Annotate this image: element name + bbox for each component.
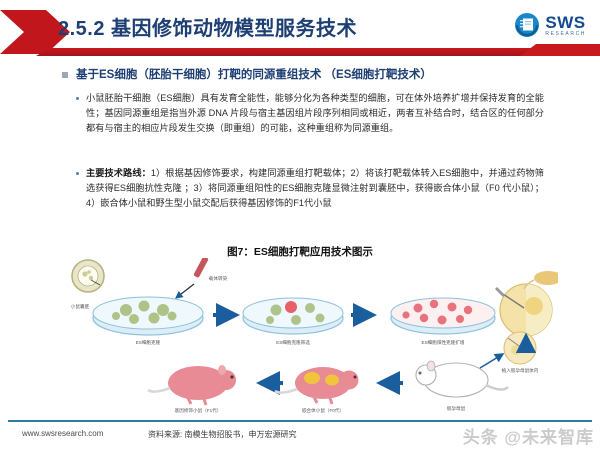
figure-dish-es-expand [391,298,495,334]
figure-dish-es-culture [93,297,203,335]
figure-label-vector: 载体转染 [209,275,228,282]
figure-vector-pipette [176,258,209,298]
logo-text-block: SWS RESEARCH [545,14,586,37]
figure-diagram: 小鼠囊胚 载体转染 [48,258,558,420]
figure-label-gene-mouse: 基因修饰小鼠（F1代） [175,407,222,414]
paragraph-route-text: 主要技术路线：1）根据基因修饰要求，构建同源重组打靶载体；2）将该打靶载体转入E… [86,166,544,211]
sws-circular-logo-icon [514,12,540,38]
figure-dish-es-screen [243,298,343,334]
figure-label-pseudopregnant: 植入假孕母鼠体内 [502,367,539,374]
paragraph-intro-text: 小鼠胚胎干细胞（ES细胞）具有发育全能性，能够分化为各种类型的细胞，可在体外培养… [86,91,544,136]
figure-label-surrogate: 假孕母鼠 [447,405,466,412]
slide-footer: www.swsresearch.com 资料来源: 南模生物招股书，申万宏源研究… [0,420,600,450]
slide-header: 2.5.2 基因修饰动物模型服务技术 SWS RESEARCH [0,0,600,58]
sws-logo: SWS RESEARCH [514,12,586,38]
figure-label-blastocyst-source: 小鼠囊胚 [71,303,90,310]
paragraph-intro: 小鼠胚胎干细胞（ES细胞）具有发育全能性，能够分化为各种类型的细胞，可在体外培养… [76,91,544,136]
footer-divider [8,420,592,422]
figure-label-es-culture: ES细胞克隆 [136,339,161,346]
dot-bullet-icon [76,97,79,100]
slide-root: 2.5.2 基因修饰动物模型服务技术 SWS RESEARCH [0,0,600,450]
footer-website-url[interactable]: www.swsresearch.com [22,429,103,438]
figure-label-es-screen: ES细胞克隆筛选 [276,339,310,346]
figure-label-es-expand: ES细胞阳性克隆扩增 [422,339,465,346]
figure-mouse-surrogate [416,354,508,397]
page-title: 2.5.2 基因修饰动物模型服务技术 [58,12,357,41]
square-bullet-icon [62,72,68,78]
figure-microinjection [496,284,552,336]
figure-label-chimera: 嵌合体小鼠（F0代） [302,407,344,414]
figure-implant-embryo [504,332,536,364]
section-heading: 基于ES细胞（胚胎干细胞）打靶的同源重组技术 （ES细胞打靶技术） [62,66,432,82]
paragraph-route-body: 1）根据基因修饰要求，构建同源重组打靶载体；2）将该打靶载体转入ES细胞中，并通… [86,168,544,208]
figure-blastocyst-source [72,260,104,292]
footer-source-note: 资料来源: 南模生物招股书，申万宏源研究 [148,429,296,440]
figure-title: 图7：ES细胞打靶应用技术图示 [0,244,600,259]
header-red-band [36,48,600,56]
dot-bullet-icon [76,172,79,175]
section-heading-text: 基于ES细胞（胚胎干细胞）打靶的同源重组技术 （ES细胞打靶技术） [76,66,432,82]
logo-subtitle: RESEARCH [545,32,586,37]
paragraph-route: 主要技术路线：1）根据基因修饰要求，构建同源重组打靶载体；2）将该打靶载体转入E… [76,166,544,211]
logo-wordmark: SWS [545,14,586,31]
slide-body: 基于ES细胞（胚胎干细胞）打靶的同源重组技术 （ES细胞打靶技术） 小鼠胚胎干细… [0,58,600,420]
paragraph-route-lead: 主要技术路线： [86,168,151,178]
figure-mouse-gene-modified [148,365,236,405]
figure-mouse-chimera [275,367,359,404]
watermark-text: 头条 @未来智库 [463,423,594,448]
header-red-band-right [520,44,600,56]
